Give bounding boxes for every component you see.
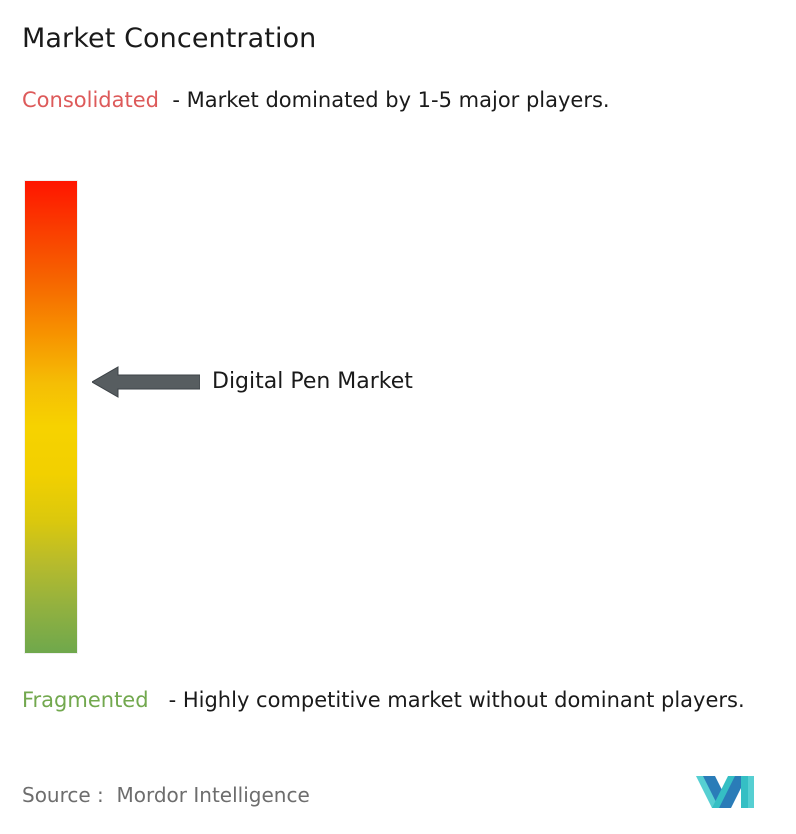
legend-description-consolidated: - Market dominated by 1-5 major players. — [172, 88, 609, 112]
legend-fragmented: Fragmented - Highly competitive market w… — [22, 686, 786, 715]
legend-description-fragmented: - Highly competitive market without domi… — [169, 688, 745, 712]
legend-separator-consolidated — [159, 88, 172, 112]
market-concentration-infographic: { "chart_data": { "type": "bar", "title"… — [0, 0, 796, 834]
legend-consolidated: Consolidated - Market dominated by 1-5 m… — [22, 86, 774, 115]
market-marker: Digital Pen Market — [92, 364, 413, 400]
legend-term-consolidated: Consolidated — [22, 88, 159, 112]
market-marker-label: Digital Pen Market — [212, 368, 413, 396]
source-attribution: Source : Mordor Intelligence — [22, 782, 310, 808]
mordor-intelligence-logo — [694, 770, 762, 812]
page-title: Market Concentration — [22, 22, 316, 56]
concentration-gradient-bar — [25, 181, 77, 653]
legend-term-fragmented: Fragmented — [22, 688, 149, 712]
left-arrow-icon — [92, 365, 200, 399]
legend-separator-fragmented — [149, 688, 169, 712]
